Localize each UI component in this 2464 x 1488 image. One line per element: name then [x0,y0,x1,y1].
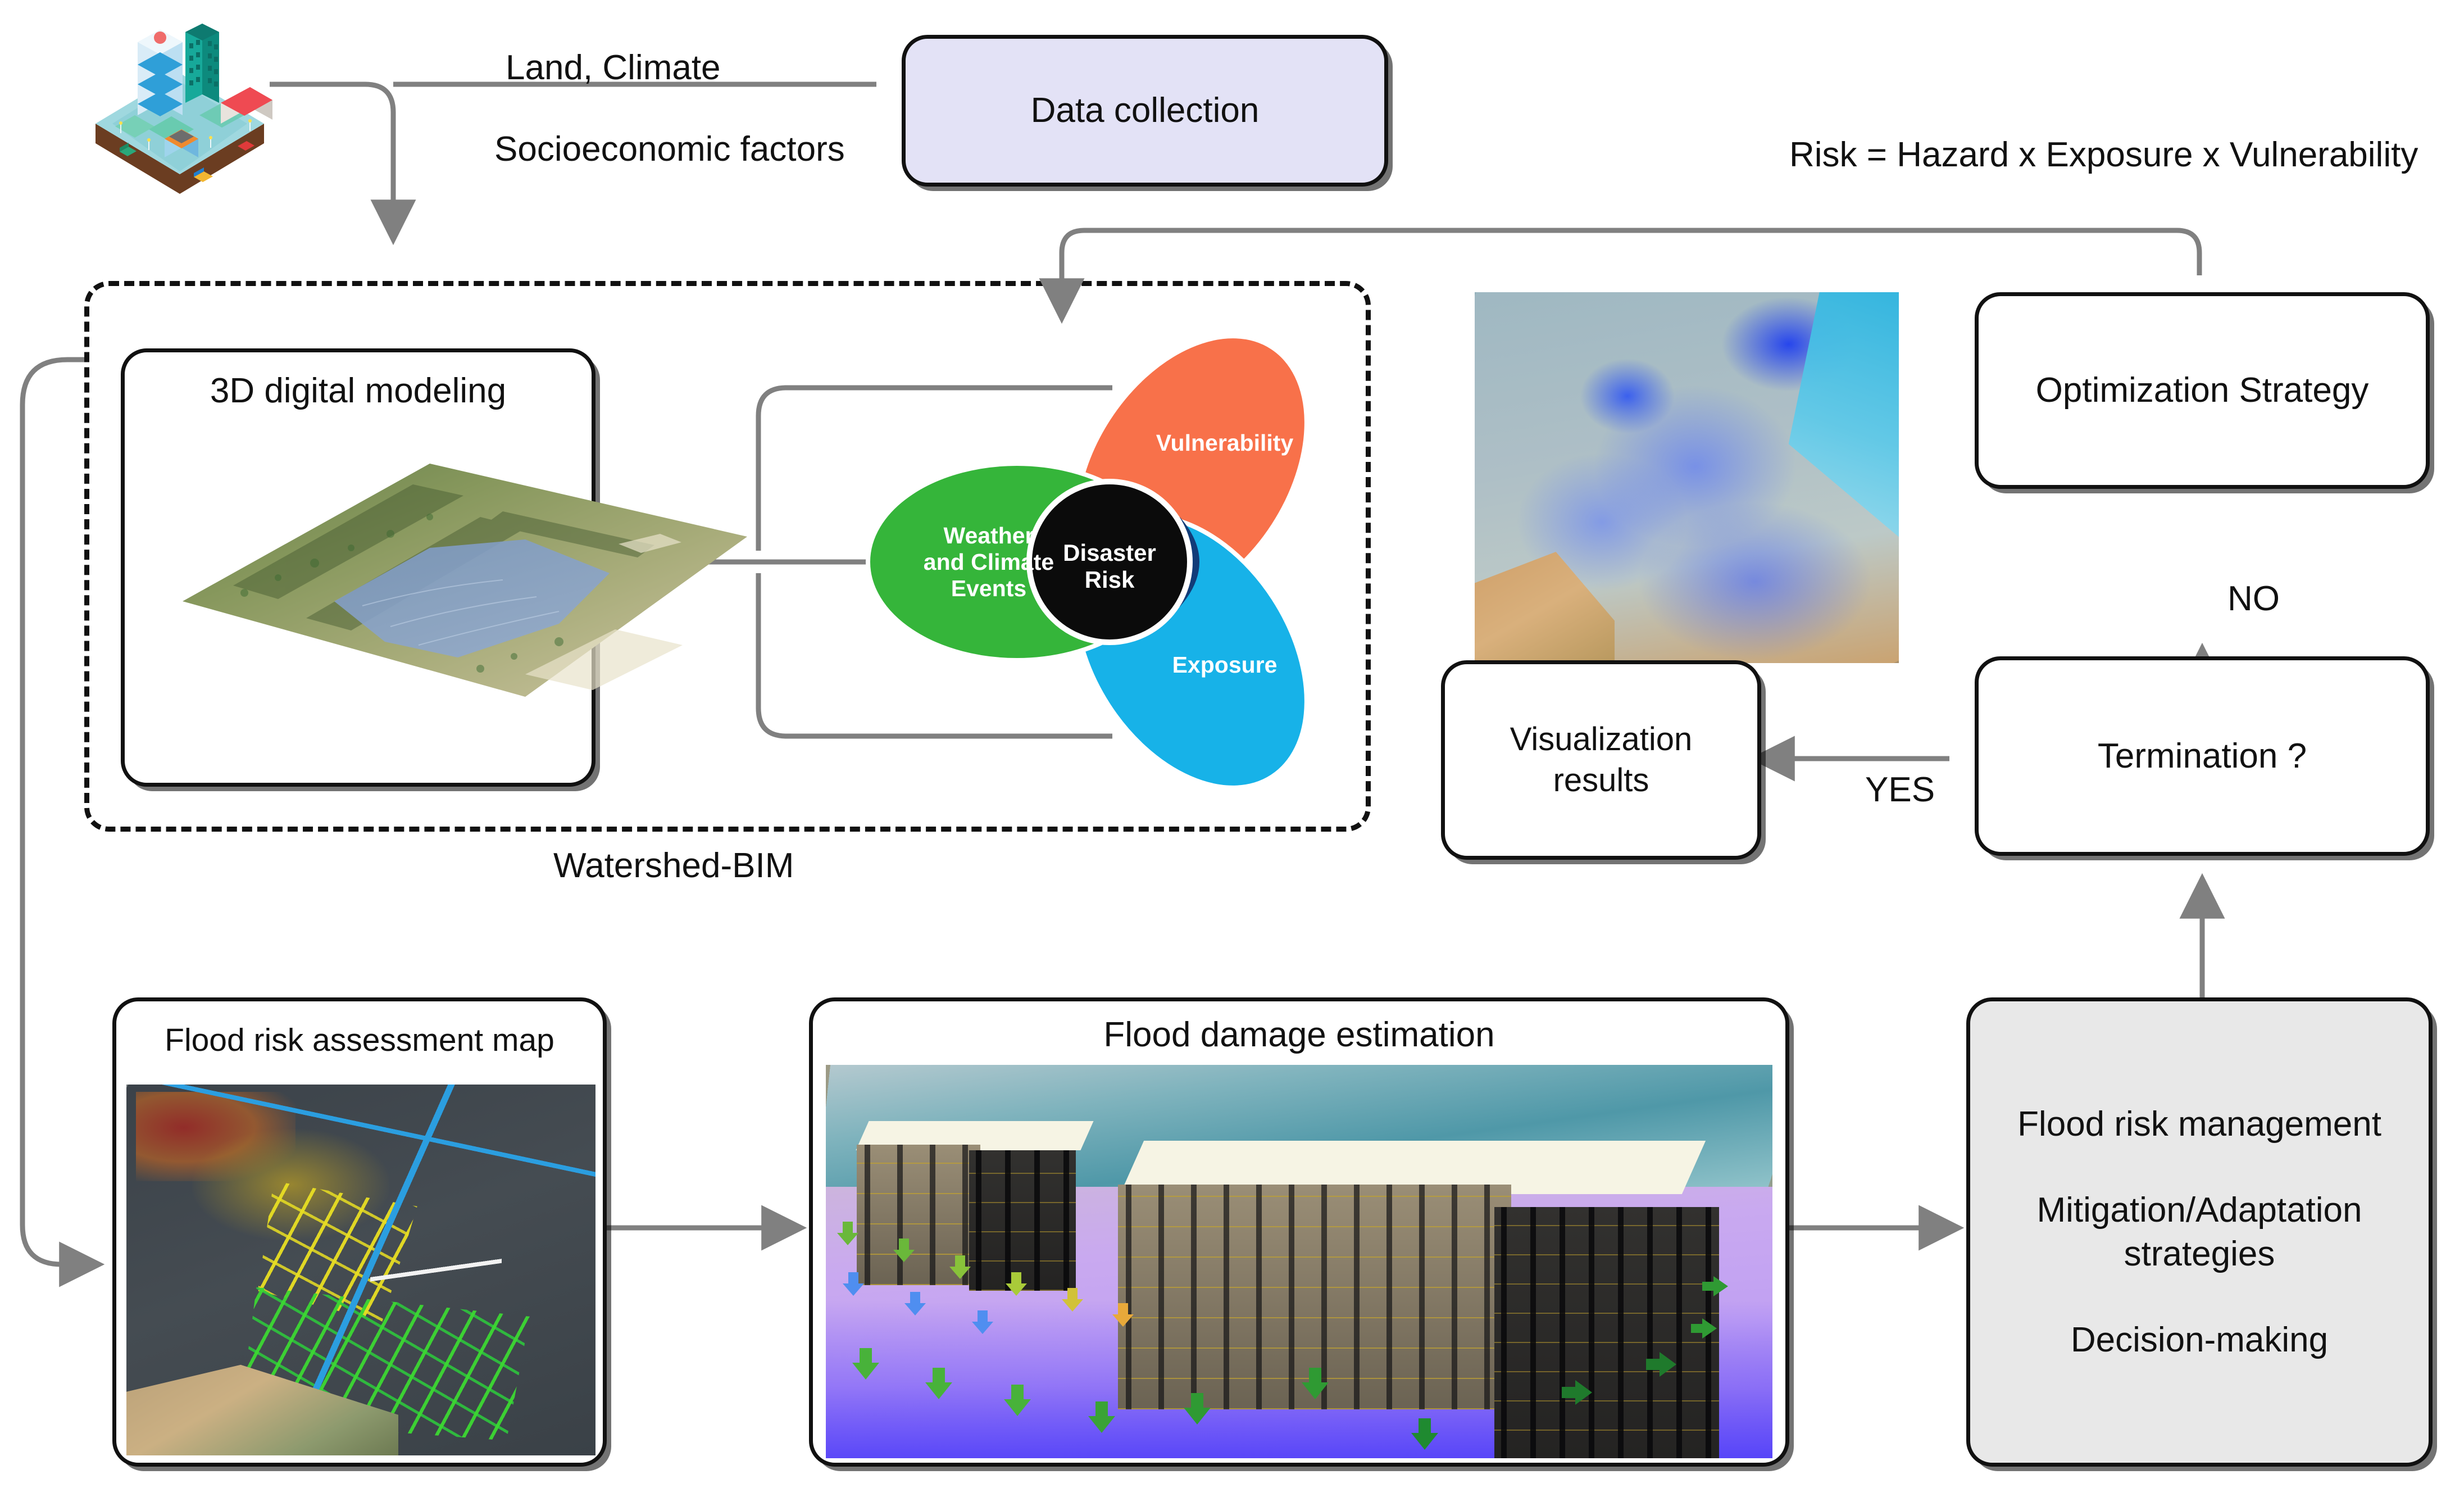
node-optimization-strategy[interactable]: Optimization Strategy [1975,292,2430,489]
management-line-4: Decision-making [1970,1318,2429,1362]
node-visualization-results-line2: results [1510,760,1693,801]
node-data-collection[interactable]: Data collection [902,35,1388,187]
terrain-model-image [166,433,761,725]
node-optimization-strategy-label: Optimization Strategy [2036,369,2369,412]
label-decision-no: NO [2227,579,2280,619]
flooded-city-illustration-icon [81,8,278,202]
node-termination-label: Termination ? [2098,734,2307,778]
node-3d-digital-modeling-label: 3D digital modeling [121,371,595,411]
flood-damage-3d-scene-image [826,1065,1772,1458]
management-line-1: Flood risk management [1970,1103,2429,1146]
node-termination[interactable]: Termination ? [1975,656,2430,856]
wire-bim-to-risk-map [22,360,96,1264]
label-land-climate: Land, Climate [506,48,721,88]
label-decision-yes: YES [1865,770,1935,810]
flood-inundation-raster-image [1475,292,1899,663]
label-socioeconomic-factors: Socioeconomic factors [494,129,845,169]
node-visualization-results-line1: Visualization [1510,719,1693,760]
node-visualization-results[interactable]: Visualization results [1441,660,1761,860]
node-flood-risk-management[interactable]: Flood risk management Mitigation/Adaptat… [1966,997,2433,1467]
disaster-risk-venn-diagram: Vulnerability Exposure Weather and Clima… [820,315,1354,798]
node-flood-damage-estimation-label: Flood damage estimation [809,1015,1789,1055]
node-data-collection-label: Data collection [1031,89,1260,133]
venn-center-disaster-risk [1029,482,1190,642]
flood-risk-map-image [126,1085,595,1455]
diagram-canvas: Watershed-BIM [0,0,2464,1488]
label-risk-equation: Risk = Hazard x Exposure x Vulnerability [1789,135,2418,175]
raster-desert [1475,552,1615,663]
management-line-3: strategies [1970,1232,2429,1276]
wire-city-to-bim [270,84,393,236]
watershed-bim-label: Watershed-BIM [553,846,794,886]
damage-scene-flow-arrows [826,1199,1772,1458]
management-line-2: Mitigation/Adaptation [1970,1188,2429,1232]
node-flood-risk-assessment-map-label: Flood risk assessment map [112,1022,607,1059]
raster-sea [1789,292,1899,537]
